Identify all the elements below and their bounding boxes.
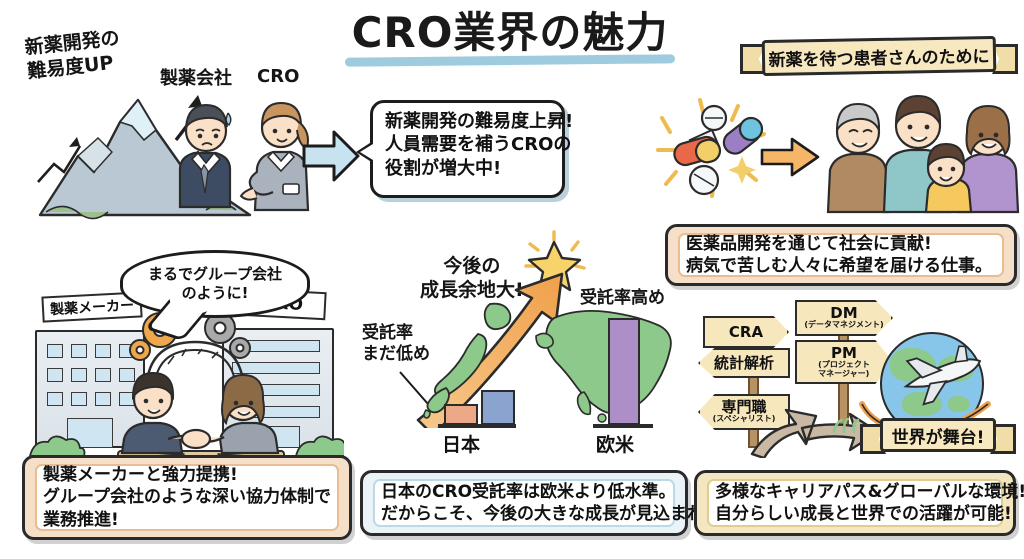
ribbon-text: 新薬を待つ患者さんのために [768, 42, 989, 71]
ribbon-text: 世界が舞台! [892, 423, 985, 448]
bubble-tail [356, 141, 373, 163]
bar-west-high [608, 318, 640, 425]
signpost-cra[interactable]: CRA [703, 316, 789, 348]
signpost-dm[interactable]: DM (データマネジメント) [795, 300, 893, 336]
label-cro: CRO [257, 66, 299, 89]
social-contribution-caption: 医薬品開発を通じて社会に貢献! 病気で苦しむ人々に希望を届ける仕事。 [665, 224, 1017, 286]
caption-line-2: 病気で苦しむ人々に希望を届ける仕事。 [686, 255, 996, 277]
page-title-text: CRO業界の魅力 [345, 12, 675, 54]
caption-line-1: 日本のCRO受託率は欧米より低水準。 [381, 481, 667, 503]
patient-family-illustration [818, 86, 1024, 214]
bar-japan-low [444, 404, 478, 425]
europe-map-illustration [530, 300, 680, 428]
caption-line-1: 医薬品開発を通じて社会に貢献! [686, 233, 996, 255]
chart-category-japan: 日本 [442, 430, 480, 457]
partnership-caption: 製薬メーカーと強力提携! グループ会社のような深い協力体制で 業務推進! [22, 455, 352, 540]
world-stage-ribbon-banner: 世界が舞台! [860, 418, 1016, 456]
caption-line-3: 業務推進! [43, 509, 331, 531]
bubble-line-2: 人員需要を補うCROの [385, 133, 550, 156]
oval-bubble-line-1: まるでグループ会社 [148, 265, 282, 285]
career-caption: 多様なキャリアパス&グローバルな環境! 自分らしい成長と世界での活躍が可能! [694, 470, 1016, 536]
growth-caption: 日本のCRO受託率は欧米より低水準。 だからこそ、今後の大きな成長が見込まれる! [360, 470, 688, 536]
caption-line-2: グループ会社のような深い協力体制で [43, 486, 331, 508]
infographic-canvas: CRO業界の魅力 新薬開発の 難易度UP 製薬会社 CRO [0, 0, 1024, 559]
caption-line-1: 製薬メーカーと強力提携! [43, 464, 331, 486]
top-speech-bubble: 新薬開発の難易度上昇! 人員需要を補うCROの 役割が増大中! [370, 100, 565, 198]
caption-line-2: だからこそ、今後の大きな成長が見込まれる! [381, 503, 667, 525]
group-company-bubble: まるでグループ会社 のように! [120, 250, 310, 318]
caption-line-1: 多様なキャリアパス&グローバルな環境! [715, 481, 995, 503]
page-title: CRO業界の魅力 [345, 12, 675, 65]
chart-category-west: 欧米 [596, 430, 634, 457]
caption-line-2: 自分らしい成長と世界での活躍が可能! [715, 503, 995, 525]
blue-right-arrow-icon [300, 128, 362, 184]
patients-ribbon-banner: 新薬を待つ患者さんのために [740, 38, 1018, 78]
bar-japan-mid [481, 390, 515, 425]
bubble-line-1: 新薬開発の難易度上昇! [385, 110, 550, 133]
label-pharma-company: 製薬会社 [160, 68, 232, 91]
bubble-line-3: 役割が増大中! [385, 157, 550, 180]
oval-bubble-line-2: のように! [182, 284, 249, 304]
orange-right-arrow-icon [760, 136, 822, 178]
